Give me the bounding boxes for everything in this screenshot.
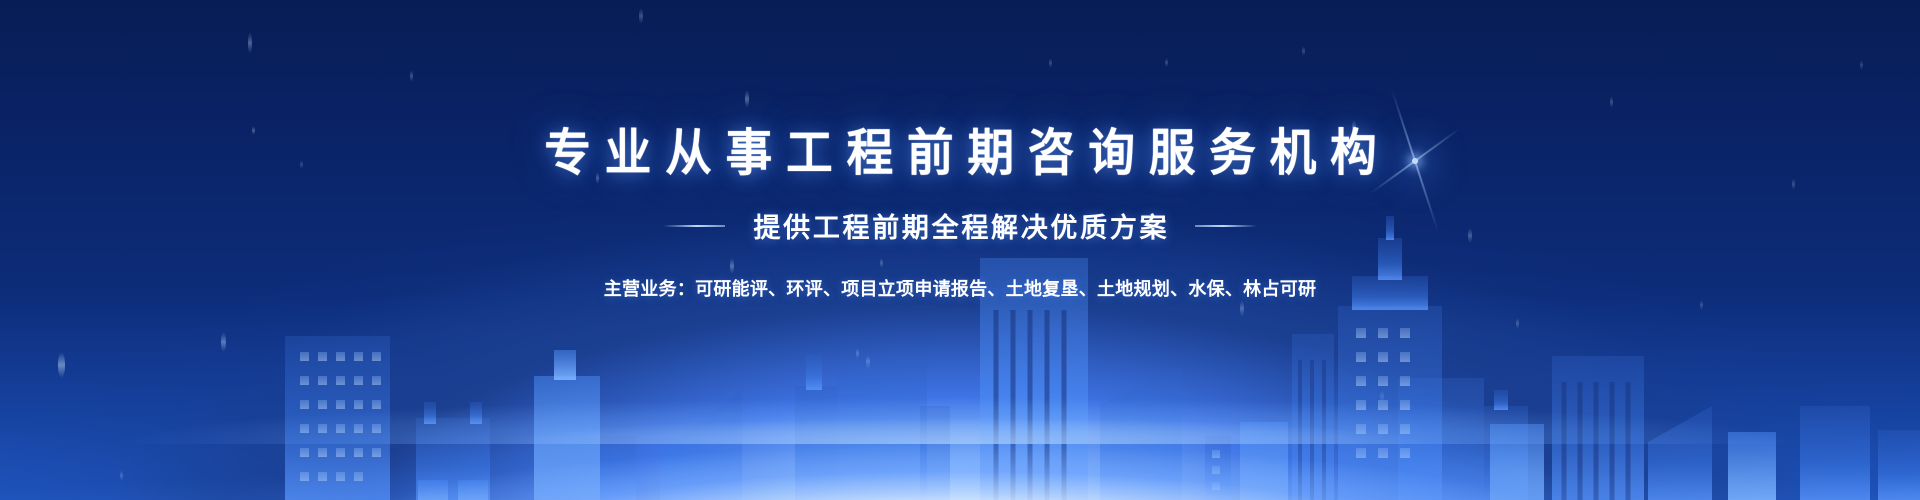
dash-left (663, 225, 725, 227)
banner-subtitle: 提供工程前期全程解决优质方案 (751, 206, 1170, 245)
banner-content: 专业从事工程前期咨询服务机构 提供工程前期全程解决优质方案 主营业务：可研能评、… (0, 0, 1920, 500)
banner-headline: 专业从事工程前期咨询服务机构 (530, 126, 1390, 180)
banner-services-line: 主营业务：可研能评、环评、项目立项申请报告、土地复垦、土地规划、水保、林占可研 (604, 275, 1317, 301)
hero-banner: 专业从事工程前期咨询服务机构 提供工程前期全程解决优质方案 主营业务：可研能评、… (0, 0, 1920, 500)
dash-right (1195, 225, 1257, 227)
banner-subtitle-row: 提供工程前期全程解决优质方案 (663, 206, 1258, 245)
